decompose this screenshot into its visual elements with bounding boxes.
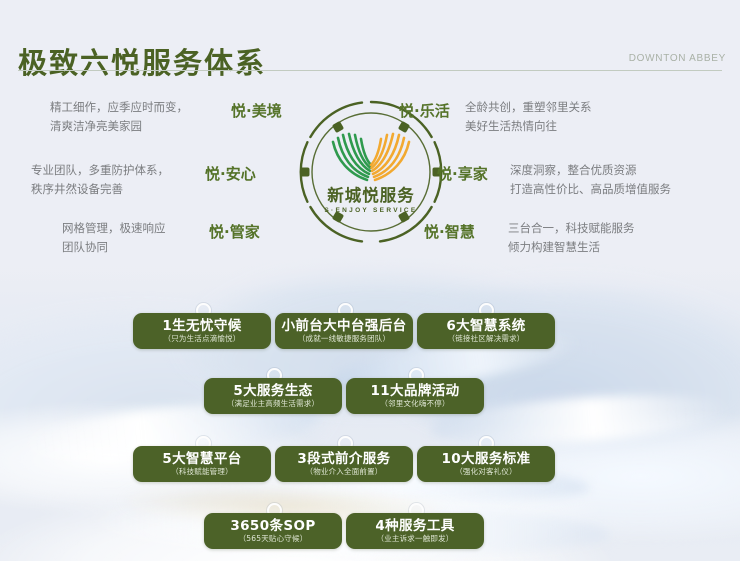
pill-subtitle: （满足业主高频生活需求）: [227, 400, 319, 408]
pill-subtitle: （只为生活点滴愉悦）: [164, 335, 241, 343]
pill-4zhong-fuwu-gongju[interactable]: 4种服务工具 （业主诉求一触即发）: [346, 513, 484, 549]
pill-subtitle: （强化对客礼仪）: [455, 468, 517, 476]
pill-subtitle: （成就一线敏捷服务团队）: [298, 335, 390, 343]
pill-6da-zhihui-xitong[interactable]: 6大智慧系统 （链接社区解决需求）: [417, 313, 555, 349]
pill-subtitle: （科技赋能管理）: [171, 468, 233, 476]
pill-5da-fuwu-shengtai[interactable]: 5大服务生态 （满足业主高频生活需求）: [204, 378, 342, 414]
pill-xiaoqiantai-dazhongtai[interactable]: 小前台大中台强后台 （成就一线敏捷服务团队）: [275, 313, 413, 349]
pill-subtitle: （物业介入全面前置）: [306, 468, 383, 476]
pill-10da-fuwu-biaozhun[interactable]: 10大服务标准 （强化对客礼仪）: [417, 446, 555, 482]
pill-title: 6大智慧系统: [446, 319, 525, 333]
pill-title: 5大智慧平台: [162, 452, 241, 466]
capability-pill-grid: 1生无忧守候 （只为生活点滴愉悦） 小前台大中台强后台 （成就一线敏捷服务团队）…: [0, 0, 740, 561]
pill-title: 1生无忧守候: [162, 319, 241, 333]
slide-canvas: 极致六悦服务体系 DOWNTON ABBEY: [0, 0, 740, 561]
pill-3duanshi-qianjie-fuwu[interactable]: 3段式前介服务 （物业介入全面前置）: [275, 446, 413, 482]
pill-title: 3650条SOP: [230, 519, 315, 533]
pill-subtitle: （565天贴心守候）: [239, 535, 308, 543]
pill-title: 11大品牌活动: [370, 384, 459, 398]
pill-subtitle: （邻里文化嗨不停）: [380, 400, 449, 408]
pill-title: 4种服务工具: [375, 519, 454, 533]
pill-1sheng-wuyou-shouhou[interactable]: 1生无忧守候 （只为生活点滴愉悦）: [133, 313, 271, 349]
pill-title: 小前台大中台强后台: [281, 319, 406, 333]
pill-subtitle: （业主诉求一触即发）: [377, 535, 454, 543]
pill-title: 10大服务标准: [441, 452, 530, 466]
pill-11da-pinpai-huodong[interactable]: 11大品牌活动 （邻里文化嗨不停）: [346, 378, 484, 414]
pill-title: 3段式前介服务: [297, 452, 390, 466]
pill-5da-zhihui-pingtai[interactable]: 5大智慧平台 （科技赋能管理）: [133, 446, 271, 482]
pill-title: 5大服务生态: [233, 384, 312, 398]
pill-subtitle: （链接社区解决需求）: [448, 335, 525, 343]
pill-3650tiao-sop[interactable]: 3650条SOP （565天贴心守候）: [204, 513, 342, 549]
